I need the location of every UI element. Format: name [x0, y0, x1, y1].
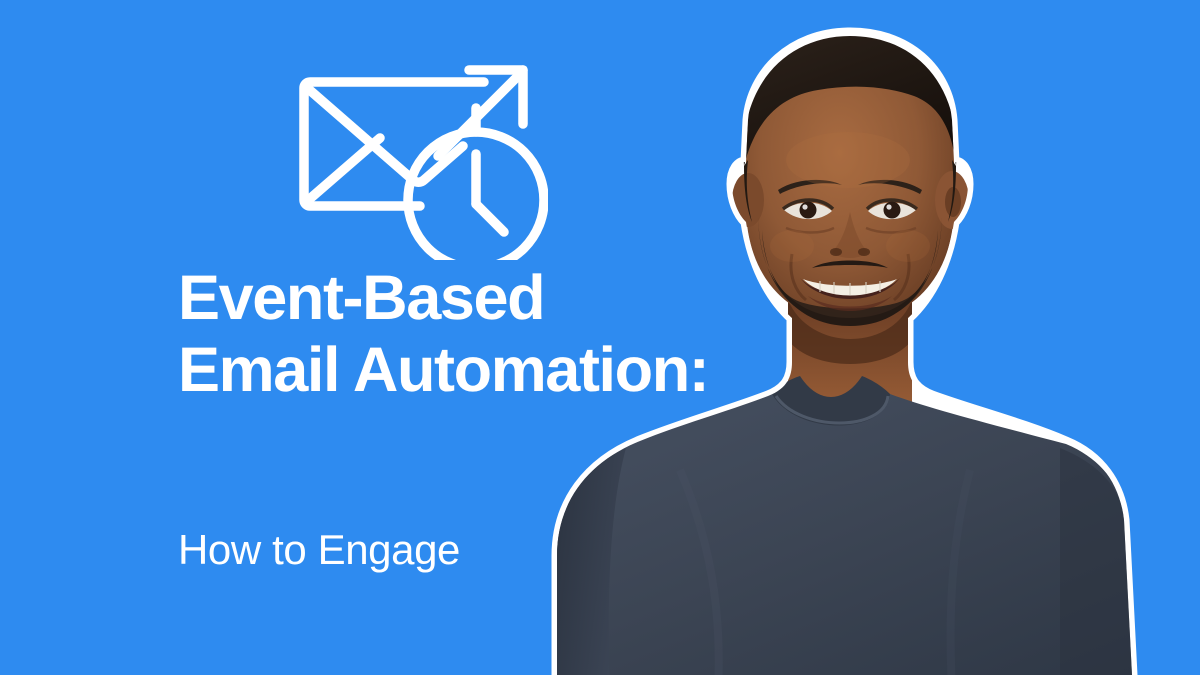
page-subtitle: How to Engage Your Audience at Exactly t…: [178, 420, 818, 675]
nostril-left: [830, 248, 842, 256]
envelope-fold-left: [305, 138, 380, 203]
envelope-body: [304, 82, 484, 206]
promo-banner: Event-BasedEmail Automation: How to Enga…: [0, 0, 1200, 675]
subtitle-line-1: How to Engage: [178, 524, 818, 576]
text-block: Event-BasedEmail Automation: How to Enga…: [178, 262, 818, 675]
headline-line-1: Event-Based: [178, 263, 544, 333]
page-title: Event-BasedEmail Automation:: [178, 262, 818, 406]
headline-line-2: Email Automation:: [178, 335, 708, 405]
envelope-flap: [305, 86, 463, 182]
nostril-right: [858, 248, 870, 256]
cheek-right-highlight: [886, 230, 930, 262]
cheek-left-highlight: [770, 230, 814, 262]
forehead-highlight: [786, 132, 910, 188]
